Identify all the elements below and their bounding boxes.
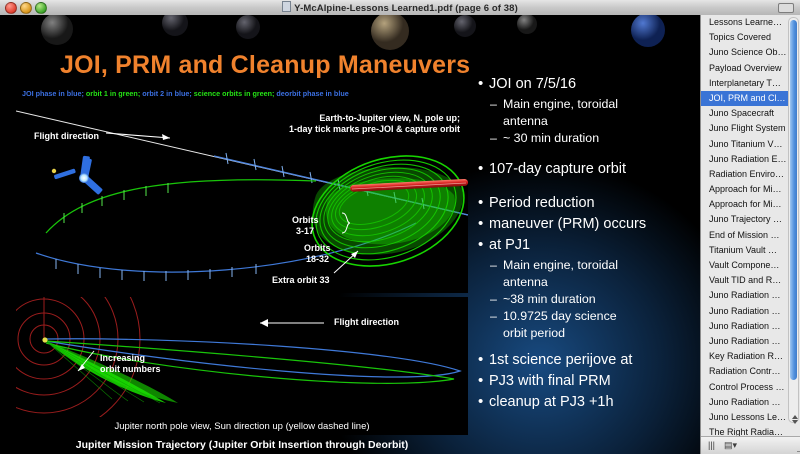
bullet-first-perijove-line1: 1st science perijove at — [478, 351, 690, 370]
annotation-increasing-line1: Increasing — [100, 353, 145, 364]
trajectory-diagram-top: Flight direction Earth-to-Jupiter view, … — [16, 103, 468, 293]
annotation-increasing-line2: orbit numbers — [100, 364, 161, 375]
sidebar-item[interactable]: Juno Radiation E… — [701, 152, 789, 167]
window-title-text: Y-McAlpine-Lessons Learned1.pdf (page 6 … — [294, 3, 518, 14]
bullet-first-perijove-line2: PJ3 with final PRM — [478, 372, 690, 391]
sidebar-item[interactable]: Juno Flight System — [701, 121, 789, 136]
sidebar-scrollbar-thumb[interactable] — [790, 20, 797, 380]
annotation-flight-direction-bottom: Flight direction — [334, 317, 399, 328]
list-view-icon[interactable]: ▤▾ — [724, 441, 737, 450]
annotation-view-note-line1: Earth-to-Jupiter view, N. pole up; — [274, 113, 460, 124]
sidebar-item[interactable]: Interplanetary T… — [701, 76, 789, 91]
sidebar-item[interactable]: Juno Lessons Le… — [701, 410, 789, 425]
subbullet-main-engine-1: Main engine, toroidal — [478, 96, 690, 112]
bullet-period-reduction-line3: at PJ1 — [478, 236, 690, 255]
sidebar-item[interactable]: Vault TID and R… — [701, 273, 789, 288]
sidebar-scrollbar-track[interactable] — [788, 17, 799, 423]
legend-orbit1: orbit 1 in green; — [86, 89, 140, 98]
increasing-orbits-leader-line — [74, 349, 100, 375]
annotation-orbits-3-17-line1: Orbits — [292, 215, 319, 226]
sidebar-item[interactable]: Titanium Vault … — [701, 243, 789, 258]
sidebar-item[interactable]: Juno Radiation … — [701, 334, 789, 349]
sidebar-item[interactable]: Juno Science Ob… — [701, 45, 789, 60]
subbullet-antenna-1: antenna — [478, 113, 690, 129]
thumbnail-sidebar[interactable]: Lessons Learne…Topics CoveredJuno Scienc… — [700, 15, 800, 454]
slide-bullet-list: JOI on 7/5/16 Main engine, toroidal ante… — [478, 75, 690, 414]
sidebar-scroll-arrows[interactable] — [790, 414, 799, 432]
pdf-viewer-window: Y-McAlpine-Lessons Learned1.pdf (page 6 … — [0, 0, 800, 454]
bullet-period-reduction-line2: maneuver (PRM) occurs — [478, 215, 690, 234]
subbullet-30-min-duration: ~ 30 min duration — [478, 130, 690, 146]
subbullet-orbit-period-cont: orbit period — [478, 325, 690, 341]
sidebar-item[interactable]: Juno Trajectory … — [701, 212, 789, 227]
subbullet-38-min-duration: ~38 min duration — [478, 291, 690, 307]
flight-direction-arrow-top — [106, 129, 186, 143]
sidebar-item[interactable]: JOI, PRM and Cl… — [701, 91, 789, 106]
slide-outline-list[interactable]: Lessons Learne…Topics CoveredJuno Scienc… — [701, 15, 789, 454]
bullet-first-perijove-line3: cleanup at PJ3 +1h — [478, 393, 690, 412]
pdf-page-area[interactable]: JOI, PRM and Cleanup Maneuvers JOI phase… — [0, 15, 700, 454]
slide-color-legend: JOI phase in blue; orbit 1 in green; orb… — [22, 89, 349, 98]
sidebar-item[interactable]: Juno Spacecraft — [701, 106, 789, 121]
sidebar-item[interactable]: Payload Overview — [701, 61, 789, 76]
window-resize-grip[interactable] — [796, 442, 800, 453]
bullet-capture-orbit: 107-day capture orbit — [478, 160, 690, 179]
annotation-orbits-3-17-line2: 3-17 — [296, 226, 314, 237]
sidebar-item[interactable]: Lessons Learne… — [701, 15, 789, 30]
subbullet-main-engine-2: Main engine, toroidal — [478, 257, 690, 273]
sidebar-toggle-icon[interactable]: ||| — [708, 441, 715, 450]
sidebar-item[interactable]: Juno Radiation … — [701, 304, 789, 319]
window-title: Y-McAlpine-Lessons Learned1.pdf (page 6 … — [0, 1, 800, 14]
subbullet-antenna-2: antenna — [478, 274, 690, 290]
legend-deorbit-phase: deorbit phase in blue — [276, 89, 348, 98]
sidebar-toolbar: ||| ▤▾ — [701, 436, 800, 454]
extra-orbit-leader-line — [332, 243, 382, 279]
sidebar-item[interactable]: Vault Compone… — [701, 258, 789, 273]
subbullet-science-orbit-period: 10.9725 day science — [478, 308, 690, 324]
sidebar-item[interactable]: Topics Covered — [701, 30, 789, 45]
trajectory-diagram-bottom: Flight direction Increasing orbit number… — [16, 297, 468, 417]
legend-orbit2: orbit 2 in blue; — [142, 89, 192, 98]
sidebar-item[interactable]: Juno Radiation … — [701, 395, 789, 410]
pdf-document-icon — [282, 1, 291, 12]
sidebar-item[interactable]: Radiation Enviro… — [701, 167, 789, 182]
window-titlebar: Y-McAlpine-Lessons Learned1.pdf (page 6 … — [0, 0, 800, 16]
sidebar-item[interactable]: Approach for Mi… — [701, 197, 789, 212]
legend-science-orbits: science orbits in green; — [194, 89, 275, 98]
sidebar-item[interactable]: Juno Radiation … — [701, 288, 789, 303]
slide-canvas: JOI, PRM and Cleanup Maneuvers JOI phase… — [0, 15, 700, 454]
bullet-joi-date: JOI on 7/5/16 — [478, 75, 690, 94]
scroll-up-arrow-icon[interactable] — [792, 415, 798, 419]
annotation-orbits-18-32-line2: 18-32 — [306, 254, 329, 265]
sidebar-item[interactable]: Radiation Contr… — [701, 364, 789, 379]
toolbar-toggle-button[interactable] — [778, 3, 794, 13]
sidebar-item[interactable]: End of Mission … — [701, 228, 789, 243]
annotation-view-note-line2: 1-day tick marks pre-JOI & capture orbit — [254, 124, 460, 135]
sidebar-item[interactable]: Key Radiation R… — [701, 349, 789, 364]
sidebar-item[interactable]: Approach for Mi… — [701, 182, 789, 197]
sidebar-item[interactable]: Juno Radiation … — [701, 319, 789, 334]
annotation-extra-orbit-33: Extra orbit 33 — [272, 275, 330, 286]
caption-mission-trajectory: Jupiter Mission Trajectory (Jupiter Orbi… — [16, 439, 468, 451]
caption-north-pole-view: Jupiter north pole view, Sun direction u… — [16, 417, 468, 435]
annotation-flight-direction-top: Flight direction — [34, 131, 99, 142]
bullet-period-reduction-line1: Period reduction — [478, 194, 690, 213]
flight-direction-arrow-bottom — [254, 317, 326, 329]
scroll-down-arrow-icon[interactable] — [792, 420, 798, 424]
sidebar-item[interactable]: Control Process … — [701, 380, 789, 395]
legend-joi-phase: JOI phase in blue; — [22, 89, 84, 98]
sidebar-item[interactable]: Juno Titanium V… — [701, 137, 789, 152]
juno-spacecraft-icon — [52, 156, 103, 195]
